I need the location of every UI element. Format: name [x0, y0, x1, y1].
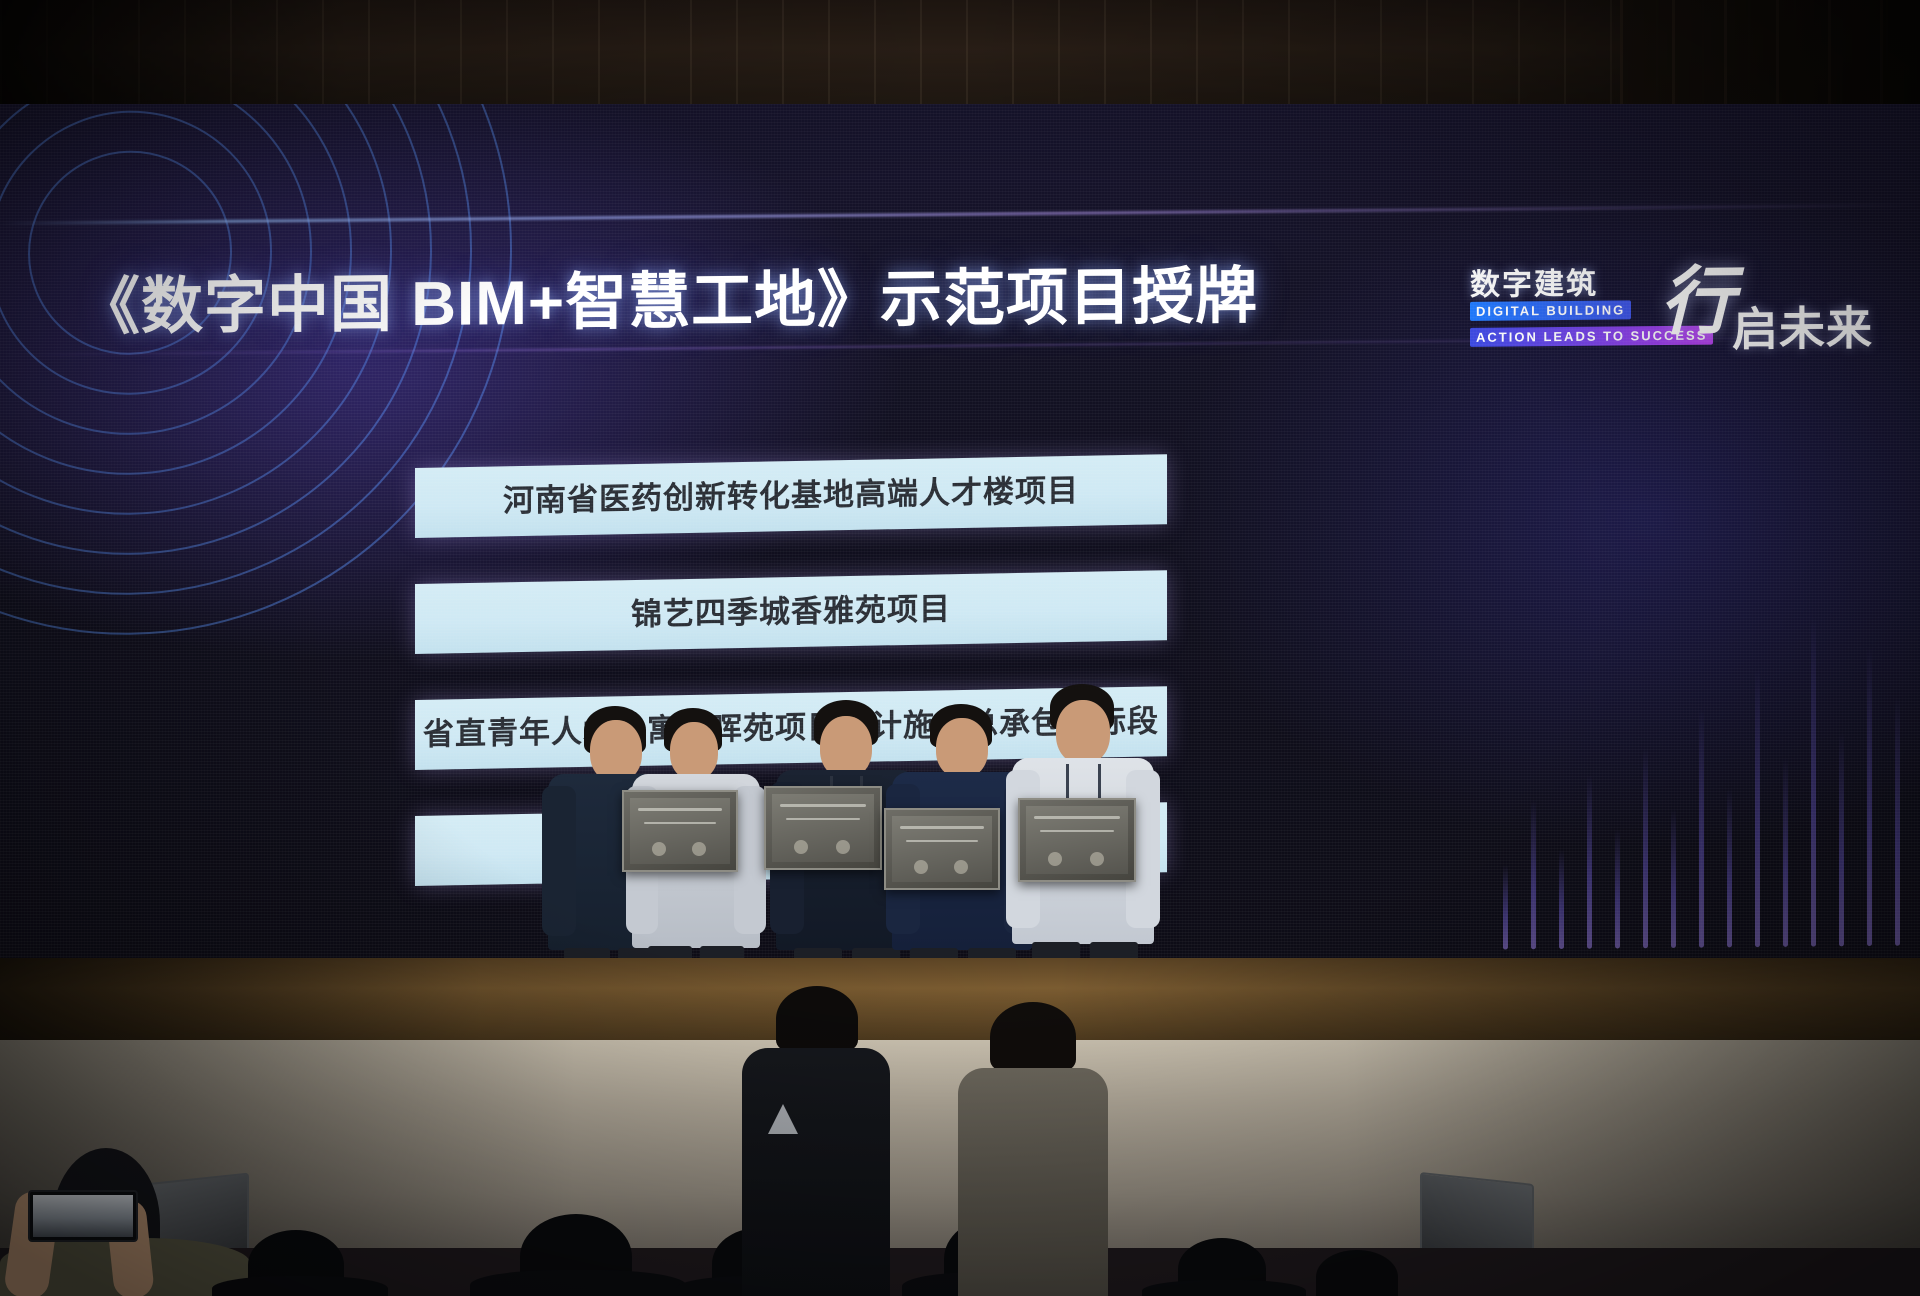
- arm-left: [542, 786, 576, 936]
- plaque-text-line: [1034, 816, 1120, 819]
- award-plaque: [764, 786, 882, 870]
- head: [936, 718, 988, 778]
- plaque-text-line: [638, 808, 722, 811]
- torso: [742, 1048, 890, 1296]
- plaque-seal: [1048, 852, 1062, 866]
- plaque-text-line: [906, 840, 978, 842]
- torso: [958, 1068, 1108, 1296]
- plaque-seal: [836, 840, 850, 854]
- audience-member-standing: [958, 1002, 1108, 1296]
- conference-stage-photo: 《数字中国 BIM+智慧工地》示范项目授牌 数字建筑 DIGITAL BUILD…: [0, 0, 1920, 1296]
- plaque-text-line: [900, 826, 984, 829]
- award-plaque: [622, 790, 738, 872]
- hair: [990, 1002, 1076, 1072]
- audience-member-shoulders: [1142, 1280, 1306, 1296]
- plaque-seal: [914, 860, 928, 874]
- plaque-text-line: [780, 804, 866, 807]
- audience-member-shoulders: [212, 1276, 388, 1296]
- plaque-text-line: [1040, 830, 1114, 832]
- head: [1056, 700, 1110, 764]
- plaque-seal: [652, 842, 666, 856]
- plaque-seal: [1090, 852, 1104, 866]
- plaque-text-line: [644, 822, 716, 824]
- smartphone-screen: [33, 1195, 133, 1237]
- audience-member-standing: [742, 986, 890, 1296]
- award-plaque: [884, 808, 1000, 890]
- venue-wall-shading: [0, 0, 1920, 120]
- plaque-seal: [794, 840, 808, 854]
- audience-member: [1316, 1250, 1398, 1296]
- smartphone-camera[interactable]: [28, 1190, 138, 1242]
- plaque-text-line: [786, 818, 860, 820]
- audience-member-shoulders: [470, 1270, 686, 1296]
- arm-right: [734, 786, 766, 934]
- plaque-seal: [692, 842, 706, 856]
- plaque-seal: [954, 860, 968, 874]
- head: [670, 722, 718, 780]
- hair: [776, 986, 858, 1052]
- award-plaque: [1018, 798, 1136, 882]
- head: [820, 716, 872, 778]
